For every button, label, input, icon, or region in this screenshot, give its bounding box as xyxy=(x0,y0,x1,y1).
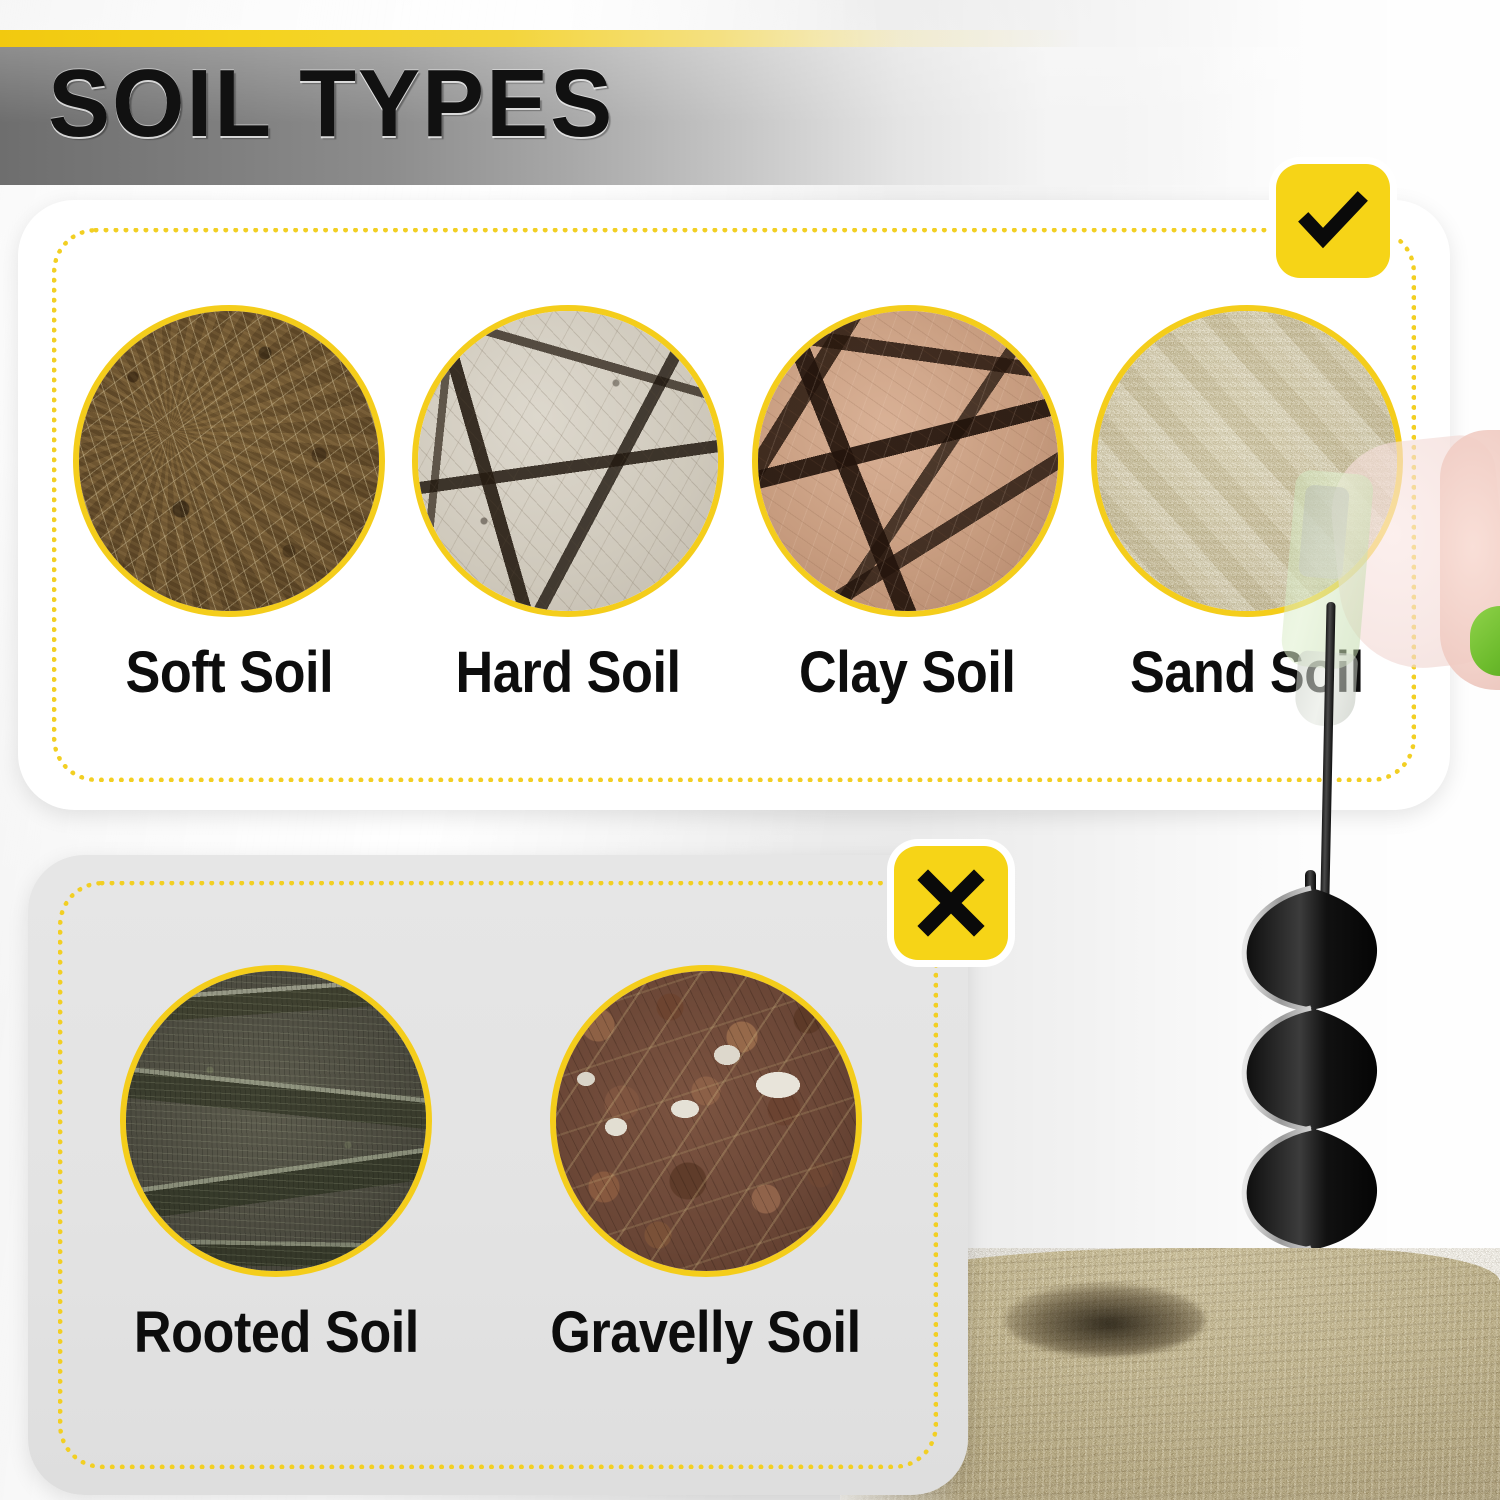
rooted-soil-image xyxy=(120,965,432,1277)
infographic-canvas: SOIL TYPES Soft Soil Hard Soil xyxy=(0,0,1500,1500)
soil-label-soft: Soft Soil xyxy=(125,639,333,706)
suitable-soils-card: Soft Soil Hard Soil Clay Soil Sand Soil xyxy=(18,200,1450,810)
cross-badge xyxy=(894,846,1008,960)
soil-item-rooted[interactable]: Rooted Soil xyxy=(118,965,435,1366)
soil-label-gravelly: Gravelly Soil xyxy=(551,1299,861,1366)
soil-item-hard[interactable]: Hard Soil xyxy=(412,305,724,706)
soil-label-clay: Clay Soil xyxy=(799,639,1015,706)
header-yellow-stripe xyxy=(0,30,1500,47)
suitable-soils-row: Soft Soil Hard Soil Clay Soil Sand Soil xyxy=(73,305,1403,706)
hard-soil-image xyxy=(412,305,724,617)
soil-label-rooted: Rooted Soil xyxy=(133,1299,418,1366)
sand-soil-texture xyxy=(1097,311,1397,611)
sand-soil-image xyxy=(1091,305,1403,617)
clay-soil-image xyxy=(752,305,1064,617)
soft-soil-texture xyxy=(79,311,379,611)
check-badge xyxy=(1276,164,1390,278)
cross-icon xyxy=(916,868,986,938)
gravelly-soil-image xyxy=(550,965,862,1277)
rooted-soil-texture xyxy=(126,971,426,1271)
soil-item-gravelly[interactable]: Gravelly Soil xyxy=(533,965,878,1366)
unsuitable-soils-card: Rooted Soil Gravelly Soil xyxy=(28,855,968,1495)
soft-soil-image xyxy=(73,305,385,617)
page-title: SOIL TYPES xyxy=(48,56,614,152)
drilled-hole xyxy=(1005,1284,1205,1356)
soil-item-sand[interactable]: Sand Soil xyxy=(1091,305,1403,706)
unsuitable-soils-row: Rooted Soil Gravelly Soil xyxy=(68,965,928,1366)
soil-label-sand: Sand Soil xyxy=(1130,639,1364,706)
soil-item-clay[interactable]: Clay Soil xyxy=(752,305,1064,706)
header-band: SOIL TYPES xyxy=(0,30,1500,185)
gravelly-soil-texture xyxy=(556,971,856,1271)
check-icon xyxy=(1296,184,1370,258)
clay-soil-texture xyxy=(758,311,1058,611)
hard-soil-texture xyxy=(418,311,718,611)
soil-item-soft[interactable]: Soft Soil xyxy=(73,305,385,706)
soil-label-hard: Hard Soil xyxy=(456,639,681,706)
